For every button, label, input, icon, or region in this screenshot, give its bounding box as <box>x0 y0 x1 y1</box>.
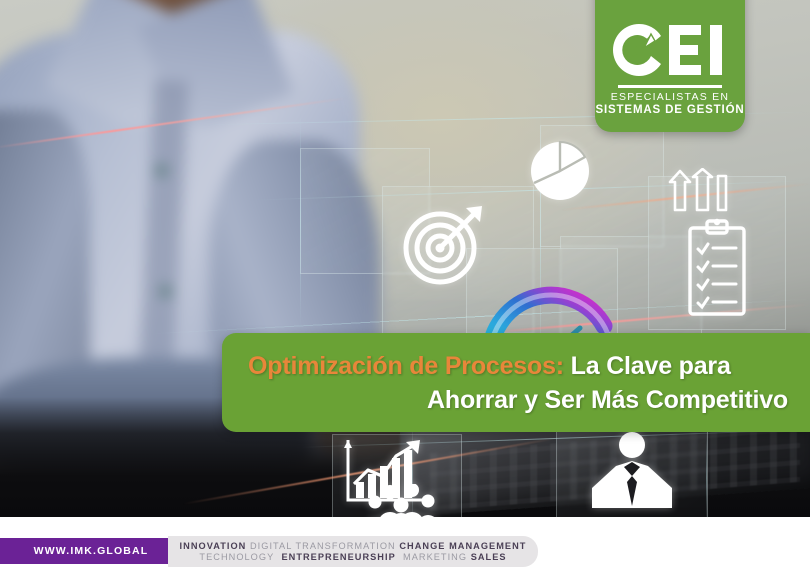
keywords-pill: INNOVATION DIGITAL TRANSFORMATION CHANGE… <box>168 536 538 567</box>
headline-line-1: Optimización de Procesos: La Clave para <box>248 349 788 383</box>
keywords-line-1: INNOVATION DIGITAL TRANSFORMATION CHANGE… <box>180 541 527 551</box>
keyword-technology: TECHNOLOGY <box>199 552 274 562</box>
business-person-icon <box>586 432 678 510</box>
headline-line-2: Ahorrar y Ser Más Competitivo <box>248 383 788 417</box>
headline-accent: Optimización de Procesos: <box>248 352 564 380</box>
keyword-sales: SALES <box>471 552 507 562</box>
keyword-digital-transformation: DIGITAL TRANSFORMATION <box>250 541 396 551</box>
cei-logo-mark <box>611 22 729 78</box>
keyword-marketing: MARKETING <box>403 552 467 562</box>
website-label: WWW.IMK.GLOBAL <box>16 545 149 557</box>
cei-tagline-line2: SISTEMAS DE GESTIÓN <box>595 104 744 118</box>
website-pill[interactable]: WWW.IMK.GLOBAL <box>0 538 182 564</box>
cei-logo-divider <box>618 85 722 88</box>
cei-letters-icon <box>611 22 729 78</box>
pie-chart-icon <box>528 139 592 203</box>
growth-arrows-icon <box>668 168 728 212</box>
hud-gridline <box>706 430 707 517</box>
team-people-icon <box>366 484 446 517</box>
clipboard-checklist-icon <box>686 218 748 318</box>
cei-tagline-line1: ESPECIALISTAS EN <box>611 92 729 104</box>
keyword-change-management: CHANGE MANAGEMENT <box>399 541 526 551</box>
keyword-entrepreneurship: ENTREPRENEURSHIP <box>281 552 395 562</box>
keywords-line-2: TECHNOLOGY ENTREPRENEURSHIP MARKETING SA… <box>199 552 506 562</box>
footer-bar: WWW.IMK.GLOBAL INNOVATION DIGITAL TRANSF… <box>0 517 810 585</box>
hud-gridline <box>300 110 301 330</box>
headline-line-1-rest: La Clave para <box>564 352 731 380</box>
keyword-innovation: INNOVATION <box>180 541 247 551</box>
cei-logo: ESPECIALISTAS EN SISTEMAS DE GESTIÓN <box>595 0 745 132</box>
headline-banner: Optimización de Procesos: La Clave para … <box>222 333 810 432</box>
banner-canvas: ESPECIALISTAS EN SISTEMAS DE GESTIÓN Opt… <box>0 0 810 585</box>
